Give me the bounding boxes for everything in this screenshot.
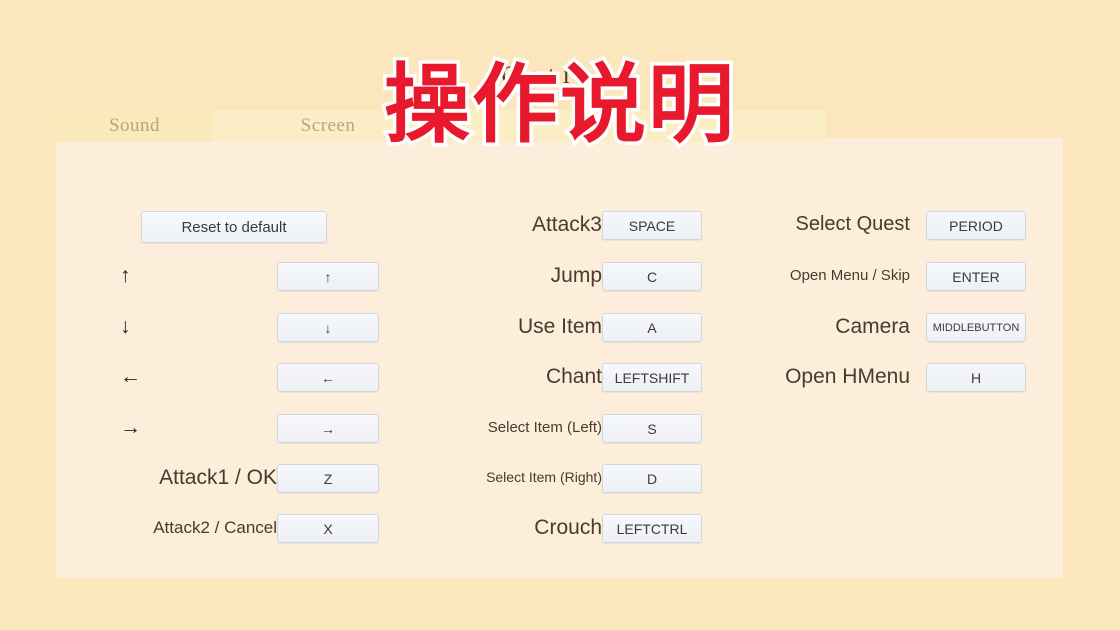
keybind-key-button[interactable]: C bbox=[602, 262, 702, 291]
keybind-key-button[interactable]: PERIOD bbox=[926, 211, 1026, 240]
keybind-key-button[interactable]: MIDDLEBUTTON bbox=[926, 313, 1026, 342]
keybind-action-label: Open Menu / Skip bbox=[760, 262, 922, 289]
overlay-annotation-text: 操作说明 bbox=[0, 60, 1120, 150]
keybind-action-label: Attack1 / OK bbox=[112, 464, 289, 491]
keybind-key-button[interactable]: ENTER bbox=[926, 262, 1026, 291]
keybind-action-label: Open HMenu bbox=[760, 363, 922, 390]
keybind-action-label: Jump bbox=[437, 262, 614, 289]
keybind-key-button[interactable]: SPACE bbox=[602, 211, 702, 240]
keybind-key-button[interactable]: X bbox=[277, 514, 379, 543]
keybind-action-label: Select Item (Left) bbox=[437, 414, 614, 441]
keybind-key-button[interactable]: ↑ bbox=[277, 262, 379, 291]
keybind-action-arrow-label: ↓ bbox=[112, 313, 277, 340]
options-panel bbox=[56, 138, 1063, 578]
keybind-key-button[interactable]: LEFTSHIFT bbox=[602, 363, 702, 392]
keybind-action-label: Camera bbox=[760, 313, 922, 340]
keybind-key-button[interactable]: S bbox=[602, 414, 702, 443]
keybind-action-label: Use Item bbox=[437, 313, 614, 340]
keybind-action-label: Crouch bbox=[437, 514, 614, 541]
keybind-key-button[interactable]: Z bbox=[277, 464, 379, 493]
keybind-action-label: Select Item (Right) bbox=[437, 464, 614, 491]
option-screen: Sound Screen H Option 操作说明 Reset to defa… bbox=[0, 0, 1120, 630]
keybind-action-label: Attack2 / Cancel bbox=[112, 514, 289, 541]
keybind-key-button[interactable]: H bbox=[926, 363, 1026, 392]
keybind-action-label: Attack3 bbox=[437, 211, 614, 238]
reset-to-default-label: Reset to default bbox=[181, 219, 286, 236]
keybind-action-arrow-label: → bbox=[112, 414, 277, 441]
keybind-key-button[interactable]: D bbox=[602, 464, 702, 493]
keybind-action-arrow-label: ← bbox=[112, 363, 277, 390]
keybind-key-button[interactable]: A bbox=[602, 313, 702, 342]
reset-to-default-button[interactable]: Reset to default bbox=[141, 211, 327, 243]
keybind-key-button[interactable]: ↓ bbox=[277, 313, 379, 342]
keybind-key-button[interactable]: ← bbox=[277, 363, 379, 392]
keybind-action-label: Select Quest bbox=[760, 211, 922, 238]
keybind-key-button[interactable]: → bbox=[277, 414, 379, 443]
keybind-key-button[interactable]: LEFTCTRL bbox=[602, 514, 702, 543]
keybind-action-label: Chant bbox=[437, 363, 614, 390]
keybind-action-arrow-label: ↑ bbox=[112, 262, 277, 289]
